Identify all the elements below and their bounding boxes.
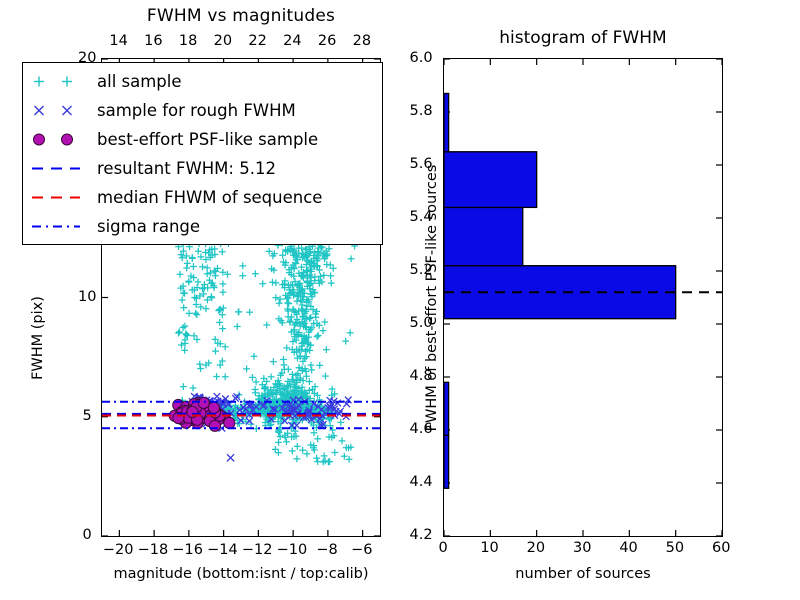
right-x-tick-label: 40 [619,540,637,556]
legend-dashed-icon [23,183,97,212]
histogram-bar [444,152,537,208]
left-bottom-tick-label: −18 [138,542,169,558]
histogram-bar [444,435,449,488]
right-x-tick-label: 0 [439,540,448,556]
right-x-axis-label: number of sources [443,566,723,582]
histogram-layer [444,59,722,536]
legend-box: all samplesample for rough FWHMbest-effo… [22,62,383,245]
legend-item-label: all sample [97,72,182,91]
legend-cross-icon [23,96,97,125]
legend-item: best-effort PSF-like sample [23,125,382,154]
histogram-bar [444,93,449,151]
figure-canvas: FWHM vs magnitudes 1416182022242628 −20−… [0,0,800,600]
right-y-tick-label: 6.0 [410,50,433,66]
left-top-tick-label: 24 [283,33,301,49]
left-top-tick-label: 26 [318,33,336,49]
left-plot-title: FWHM vs magnitudes [101,6,381,26]
left-y-tick-label: 0 [83,527,92,543]
legend-dashdot-icon [23,212,97,241]
right-x-tick-label: 20 [527,540,545,556]
left-bottom-tick-label: −10 [277,542,308,558]
right-plot-title: histogram of FWHM [443,28,723,48]
left-y-tick-label: 10 [78,289,96,305]
left-bottom-tick-label: −14 [207,542,238,558]
left-x-axis-label: magnitude (bottom:isnt / top:calib) [41,566,441,582]
left-bottom-tick-label: −20 [103,542,134,558]
legend-dashed-icon [23,154,97,183]
left-top-tick-label: 28 [353,33,371,49]
legend-item: sample for rough FWHM [23,96,382,125]
legend-item-label: sigma range [97,217,200,236]
right-x-tick-label: 60 [712,540,730,556]
legend-item-label: sample for rough FWHM [97,101,296,120]
legend-item: median FHWM of sequence [23,183,382,212]
left-top-tick-label: 18 [179,33,197,49]
left-bottom-tick-label: −6 [351,542,372,558]
legend-plus-icon [23,67,97,96]
legend-dot-icon [23,125,97,154]
right-plot-axes [443,58,723,537]
right-x-tick-label: 50 [666,540,684,556]
right-x-tick-label: 30 [573,540,591,556]
left-bottom-tick-label: −8 [316,542,337,558]
left-top-tick-label: 14 [109,33,127,49]
left-top-tick-label: 20 [214,33,232,49]
left-y-axis-label: FWHM (pix) [30,253,46,423]
left-top-tick-label: 22 [248,33,266,49]
right-y-axis-label: FWHM of best-effort PSF-like sources [424,153,440,443]
legend-item-label: resultant FWHM: 5.12 [97,159,276,178]
histogram-bar [444,382,449,435]
right-y-tick-label: 5.8 [410,103,433,119]
right-plot-area [444,59,722,536]
legend-item-label: best-effort PSF-like sample [97,130,318,149]
right-x-tick-label: 10 [480,540,498,556]
legend-item: sigma range [23,212,382,241]
left-y-tick-label: 5 [83,408,92,424]
histogram-bar [444,207,523,265]
legend-item-label: median FHWM of sequence [97,188,322,207]
legend-item: all sample [23,67,382,96]
left-top-tick-label: 16 [144,33,162,49]
left-bottom-tick-label: −16 [172,542,203,558]
left-bottom-tick-label: −12 [242,542,273,558]
right-y-tick-label: 4.2 [410,527,433,543]
legend-item: resultant FWHM: 5.12 [23,154,382,183]
right-y-tick-label: 4.4 [410,474,433,490]
